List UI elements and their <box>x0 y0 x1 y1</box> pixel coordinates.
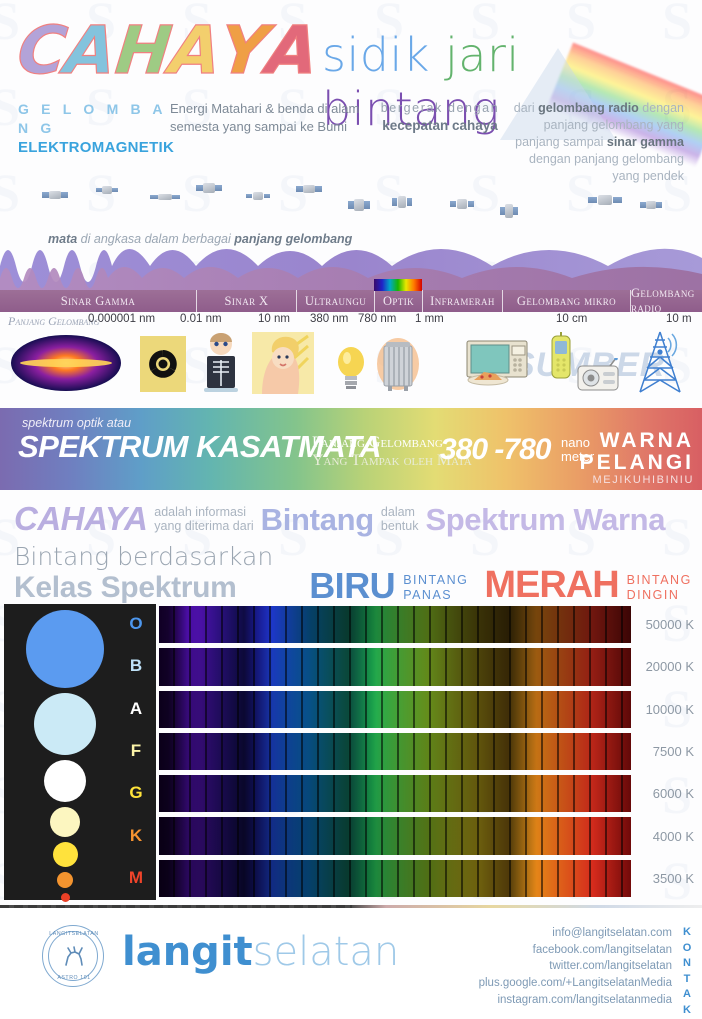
header-blurbs: G E L O M B A N G ELEKTROMAGNETIK Energi… <box>0 100 702 184</box>
temperature-label-A: 10000 K <box>646 702 694 717</box>
brand-logo[interactable]: langitselatan <box>122 929 399 975</box>
title-letter-1: A <box>62 18 119 84</box>
seal-top-text: LANGITSELATAN <box>43 931 105 937</box>
temperature-label-M: 3500 K <box>653 871 694 886</box>
statement-row-2: Bintang berdasarkan Kelas Spektrum BIRU … <box>0 542 702 607</box>
langitselatan-seal-icon: LANGITSELATAN ASTRO 101 <box>42 925 104 987</box>
wavelength-tick: 0.000001 nm <box>88 313 155 325</box>
wavelength-scale-label: Panjang Gelombang <box>8 314 99 329</box>
wave-graphic <box>0 232 702 294</box>
absorption-lines <box>159 775 631 812</box>
statement-part-0: CAHAYA <box>14 500 147 538</box>
satellite-body <box>102 186 112 194</box>
satellite-solar-panel <box>264 194 270 199</box>
satellite-solar-panel <box>112 188 118 193</box>
kontak-letter: N <box>680 956 694 972</box>
radio-receiver-icon <box>576 358 622 392</box>
satellite-solar-panel <box>392 198 397 206</box>
satellite-body <box>158 194 171 200</box>
satellite-icon <box>246 190 270 202</box>
star-disc-M <box>61 893 70 902</box>
biru-tag-line1: BINTANG <box>403 573 468 587</box>
merah-tag-line1: BINTANG <box>627 573 692 587</box>
satellite-solar-panel <box>450 201 456 207</box>
brand-logo-light: selatan <box>253 929 400 975</box>
page-title: CAHAYA <box>18 18 317 84</box>
satellite-solar-panel <box>364 201 370 208</box>
contact-line[interactable]: instagram.com/langitselatanmedia <box>479 992 672 1009</box>
statement-note-line: yang diterima dari <box>154 519 253 533</box>
visible-spectrum-banner: spektrum optik atau SPEKTRUM KASATMATA P… <box>0 408 702 490</box>
satellite-solar-panel <box>640 202 646 208</box>
spectrum-strip-M <box>159 860 631 897</box>
satellite-solar-panel <box>96 188 102 193</box>
satellite-solar-panel <box>500 207 505 216</box>
xray-body-icon <box>198 332 244 394</box>
spektrum-range-value: 380 -780 <box>440 433 550 467</box>
satellite-solar-panel <box>246 194 252 199</box>
satellite-solar-panel <box>656 202 662 208</box>
statement-class-group: Bintang berdasarkan Kelas Spektrum <box>14 542 273 607</box>
temperature-label-B: 20000 K <box>646 659 694 674</box>
satellite-solar-panel <box>468 201 474 207</box>
warna-mnemonic: MEJIKUHIBINIU <box>580 474 694 486</box>
star-size-column <box>4 604 114 900</box>
star-disc-B <box>34 693 96 755</box>
satellite-body <box>398 196 407 209</box>
radiator-heater-icon <box>376 334 420 392</box>
statement-note-line: bentuk <box>381 519 419 533</box>
spectrum-strip-B <box>159 648 631 685</box>
blurb-electromagnetic: G E L O M B A N G ELEKTROMAGNETIK <box>0 100 170 184</box>
statement-part-1: adalah informasiyang diterima dari <box>147 505 260 538</box>
header: CAHAYA sidik jari bintang G E L O M B A … <box>0 0 702 180</box>
star-disc-K <box>57 872 73 888</box>
blurb-range-part-0: dari <box>514 101 538 115</box>
statement-note-line: dalam <box>381 505 419 519</box>
footer: LANGITSELATAN ASTRO 101 langitselatan in… <box>0 905 702 1000</box>
blurb-speed-line1: bergerak dengan <box>375 100 505 117</box>
statement-part-3: dalambentuk <box>374 505 426 538</box>
star-disc-G <box>53 842 78 867</box>
wavelength-tick: 380 nm <box>310 313 348 325</box>
sunbathing-woman-icon <box>252 332 314 394</box>
temperature-column: 50000 K20000 K10000 K7500 K6000 K4000 K3… <box>636 604 698 900</box>
title-letter-3: A <box>166 18 223 84</box>
wavelength-tick: 1 mm <box>415 313 444 325</box>
radio-tower-icon <box>634 330 686 394</box>
satellite-solar-panel <box>613 197 622 203</box>
temperature-label-K: 4000 K <box>653 829 694 844</box>
satellite-icon <box>96 184 118 196</box>
mobile-phone-icon <box>548 332 574 380</box>
em-band-inframerah[interactable]: Inframerah <box>422 290 502 312</box>
contact-list: info@langitselatan.comfacebook.com/langi… <box>479 925 672 1008</box>
statement-biru-tag: BINTANG PANAS <box>395 573 468 607</box>
warna-pelangi-block: WARNA PELANGI MEJIKUHIBINIU <box>580 430 694 486</box>
satellite-body <box>49 191 60 200</box>
statement-row-1: CAHAYAadalah informasiyang diterima dari… <box>0 500 702 538</box>
galaxy-allsky-icon <box>10 334 122 392</box>
warna-line2: PELANGI <box>580 452 694 474</box>
contact-line[interactable]: facebook.com/langitselatan <box>479 942 672 959</box>
absorption-lines <box>159 648 631 685</box>
satellite-body <box>646 201 656 210</box>
star-disc-O <box>26 610 104 688</box>
satellite-solar-panel <box>513 207 518 216</box>
wavelength-tick: 10 m <box>666 313 692 325</box>
spectrum-strip-K <box>159 817 631 854</box>
satellite-icon <box>588 192 622 208</box>
em-band-sinar-gamma[interactable]: Sinar Gamma <box>0 290 196 312</box>
spectral-class-label-B[interactable]: B <box>116 656 156 676</box>
satellite-solar-panel <box>42 192 49 198</box>
satellite-body <box>303 185 314 194</box>
em-band-ultraungu[interactable]: Ultraungu <box>296 290 374 312</box>
satellite-icon <box>500 200 518 222</box>
star-disc-F <box>50 807 80 837</box>
satellite-solar-panel <box>196 185 203 191</box>
blurb-energy: Energi Matahari & benda di alam semesta … <box>170 100 375 184</box>
temperature-label-O: 50000 K <box>646 617 694 632</box>
subtitle-word-sidik: sidik <box>322 28 445 82</box>
satellite-body <box>354 199 364 211</box>
satellite-solar-panel <box>61 192 68 198</box>
statement-part-2: Bintang <box>261 502 374 538</box>
kontak-vertical-label: KONTAK <box>680 925 694 1019</box>
kontak-letter: K <box>680 1003 694 1019</box>
seal-bottom-text: ASTRO 101 <box>43 975 105 981</box>
kontak-letter: A <box>680 987 694 1003</box>
spectra-strip-column <box>159 604 631 900</box>
spectral-class-column: OBAFGKM <box>116 604 156 900</box>
kontak-letter: K <box>680 925 694 941</box>
stellar-spectra-chart: OBAFGKM 50000 K20000 K10000 K7500 K6000 … <box>4 604 698 900</box>
wavelength-tick: 10 cm <box>556 313 587 325</box>
merah-tag-line2: DINGIN <box>627 588 692 602</box>
spectral-class-label-A[interactable]: A <box>116 699 156 719</box>
satellite-solar-panel <box>172 195 180 199</box>
title-letter-2: H <box>112 18 173 84</box>
radiation-hazard-icon <box>140 336 186 392</box>
satellite-solar-panel <box>407 198 412 206</box>
blurb-range-part-1: gelombang radio <box>538 101 639 115</box>
star-disc-A <box>44 760 86 802</box>
blurb-range-part-4: dengan panjang gelombang yang pendek <box>529 152 684 183</box>
source-icon-row: SUMBER <box>0 330 702 402</box>
spectral-class-label-M[interactable]: M <box>116 868 156 888</box>
spectral-class-label-K[interactable]: K <box>116 826 156 846</box>
spectrum-strip-A <box>159 691 631 728</box>
spectrum-strip-F <box>159 733 631 770</box>
absorption-lines <box>159 860 631 897</box>
wavelength-tick: 0.01 nm <box>180 313 222 325</box>
warna-line1: WARNA <box>580 430 694 452</box>
satellite-solar-panel <box>215 185 222 191</box>
spectrum-strip-G <box>159 775 631 812</box>
seal-deer-icon <box>61 945 87 969</box>
footer-rule-dashed <box>0 905 352 908</box>
spectral-class-label-O[interactable]: O <box>116 614 156 634</box>
blurb-range-part-3: sinar gamma <box>607 135 684 149</box>
temperature-label-G: 6000 K <box>653 786 694 801</box>
absorption-lines <box>159 606 631 643</box>
microwave-oven-icon <box>466 340 528 386</box>
statement-merah: MERAH <box>468 564 618 607</box>
satellite-icon <box>150 192 180 202</box>
satellite-solar-panel <box>315 186 322 192</box>
kontak-letter: T <box>680 972 694 988</box>
satellite-body <box>598 195 613 205</box>
contact-line[interactable]: plus.google.com/+LangitselatanMedia <box>479 975 672 992</box>
brand-logo-bold: langit <box>122 929 253 975</box>
em-band-gelombang-radio[interactable]: Gelombang radio <box>630 290 702 312</box>
statement-biru: BIRU <box>273 565 395 607</box>
statement-part-4: Spektrum Warna <box>425 502 665 538</box>
statement-note-line: adalah informasi <box>154 505 253 519</box>
blurb-speed-line2: kecepatan cahaya <box>375 117 505 135</box>
lightbulb-icon <box>334 344 368 390</box>
satellite-icon <box>42 188 68 202</box>
spectrum-strip-O <box>159 606 631 643</box>
spektrum-small-label: spektrum optik atau <box>22 416 131 430</box>
wavelength-tick: 10 nm <box>258 313 290 325</box>
blurb-em-line1: G E L O M B A N G <box>18 100 170 138</box>
satellite-solar-panel <box>150 195 158 199</box>
infographic-page: SSSSSSSSSSSSSSSSSSSSSSSSSSSSSSSSSSSSSSSS… <box>0 0 702 1000</box>
title-letter-5: A <box>263 18 320 84</box>
satellite-solar-panel <box>588 197 597 203</box>
satellite-icon <box>450 196 474 212</box>
em-band-optik[interactable]: Optik <box>374 290 422 312</box>
blurb-speed: bergerak dengan kecepatan cahaya <box>375 100 505 184</box>
title-letter-0: C <box>15 18 69 84</box>
wavelength-tick: 780 nm <box>358 313 396 325</box>
satellite-solar-panel <box>296 186 303 192</box>
em-band-gelombang-mikro[interactable]: Gelombang mikro <box>502 290 630 312</box>
satellite-icon <box>640 198 662 212</box>
statement-merah-tag: BINTANG DINGIN <box>619 573 692 607</box>
statement-bintang-berdasarkan: Bintang berdasarkan <box>14 542 273 571</box>
contact-line[interactable]: twitter.com/langitselatan <box>479 958 672 975</box>
biru-tag-line2: PANAS <box>403 588 468 602</box>
satellite-body <box>203 183 214 193</box>
spectral-class-label-G[interactable]: G <box>116 783 156 803</box>
satellite-body <box>253 192 264 200</box>
spectral-class-label-F[interactable]: F <box>116 741 156 761</box>
satellite-icon <box>348 196 370 214</box>
temperature-label-F: 7500 K <box>653 744 694 759</box>
contact-line[interactable]: info@langitselatan.com <box>479 925 672 942</box>
absorption-lines <box>159 691 631 728</box>
satellite-solar-panel <box>348 201 354 208</box>
statement-kelas-spektrum: Kelas Spektrum <box>14 571 273 605</box>
blurb-em-line2: ELEKTROMAGNETIK <box>18 138 170 158</box>
optical-band-strip <box>374 279 422 291</box>
satellite-body <box>457 199 468 209</box>
title-letter-4: Y <box>216 18 270 84</box>
kontak-letter: O <box>680 941 694 957</box>
absorption-lines <box>159 733 631 770</box>
em-band-bar: Sinar GammaSinar XUltraunguOptikInframer… <box>0 290 702 312</box>
em-band-sinar-x[interactable]: Sinar X <box>196 290 296 312</box>
absorption-lines <box>159 817 631 854</box>
statement-block: CAHAYAadalah informasiyang diterima dari… <box>0 496 702 596</box>
satellite-icon <box>392 192 412 212</box>
satellite-body <box>505 204 513 218</box>
blurb-range: dari gelombang radio dengan panjang gelo… <box>505 100 700 184</box>
wavelength-scale: Panjang Gelombang 0.000001 nm0.01 nm10 n… <box>0 313 702 329</box>
